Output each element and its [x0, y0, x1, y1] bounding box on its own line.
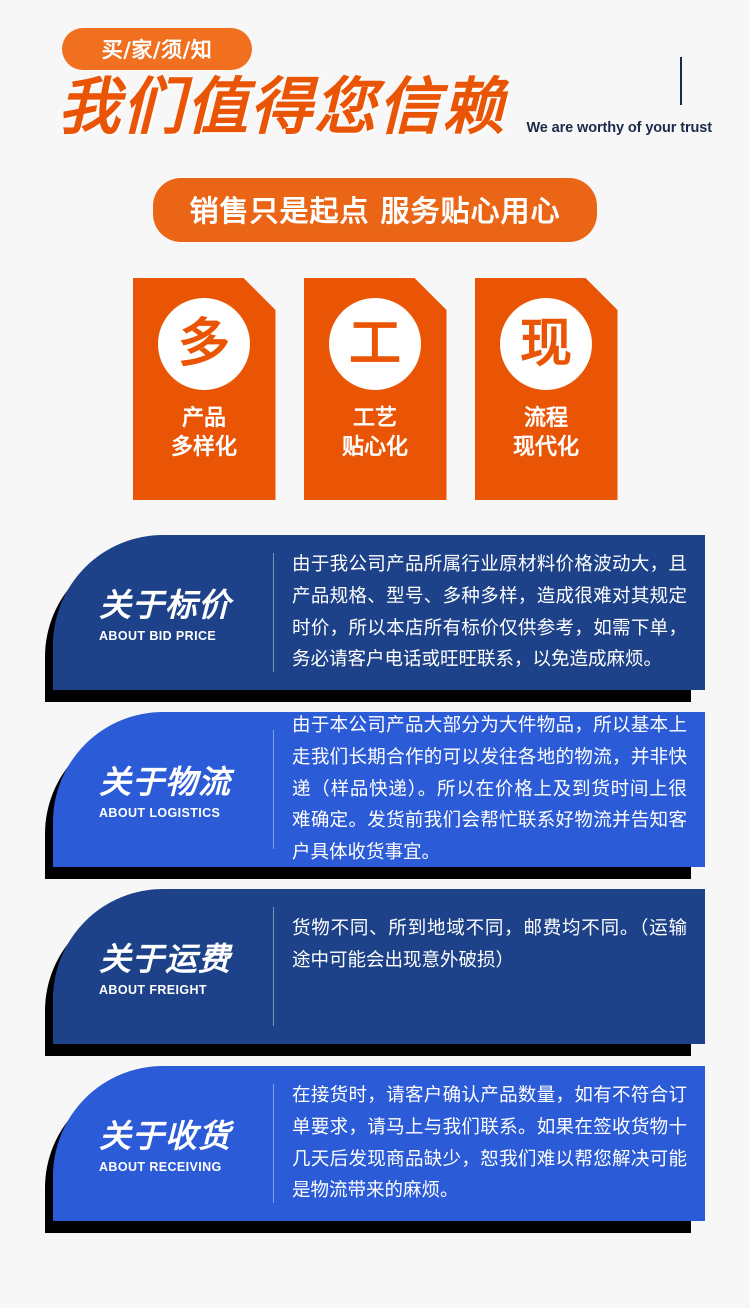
feature-card-line1: 流程	[513, 404, 579, 433]
info-panel-receiving: 关于收货 ABOUT RECEIVING 在接货时，请客户确认产品数量，如有不符…	[45, 1066, 705, 1221]
panel-surface: 关于收货 ABOUT RECEIVING 在接货时，请客户确认产品数量，如有不符…	[53, 1066, 705, 1221]
panel-title-en: ABOUT LOGISTICS	[99, 806, 273, 820]
info-panel-logistics: 关于物流 ABOUT LOGISTICS 由于本公司产品大部分为大件物品，所以基…	[45, 712, 705, 867]
feature-card-product: 多 产品 多样化	[133, 278, 276, 500]
sub-banner: 销售只是起点 服务贴心用心	[153, 178, 596, 242]
info-panel-bid-price: 关于标价 ABOUT BID PRICE 由于我公司产品所属行业原材料价格波动大…	[45, 535, 705, 690]
info-panel-freight: 关于运费 ABOUT FREIGHT 货物不同、所到地域不同，邮费均不同。（运输…	[45, 889, 705, 1044]
panel-title-cn: 关于标价	[99, 588, 273, 623]
panel-body: 在接货时，请客户确认产品数量，如有不符合订单要求，请马上与我们联系。如果在签收货…	[273, 1084, 705, 1203]
feature-card-process: 现 流程 现代化	[475, 278, 618, 500]
feature-card-icon-circle: 现	[500, 298, 592, 390]
panel-title-cn: 关于运费	[99, 942, 273, 977]
feature-cards-row: 多 产品 多样化 工 工艺 贴心化 现 流程 现代化	[0, 278, 750, 500]
page-title: 我们值得您信赖	[58, 76, 506, 138]
feature-card-icon-circle: 多	[158, 298, 250, 390]
header-divider-rule	[680, 57, 682, 105]
feature-card-text: 流程 现代化	[513, 404, 579, 462]
panel-heading-block: 关于标价 ABOUT BID PRICE	[53, 582, 273, 643]
panel-title-en: ABOUT RECEIVING	[99, 1160, 273, 1174]
header-section: 买/家/须/知 我们值得您信赖 We are worthy of your tr…	[0, 0, 750, 170]
feature-card-craft: 工 工艺 贴心化	[304, 278, 447, 500]
panel-title-cn: 关于物流	[99, 765, 273, 800]
panel-heading-block: 关于收货 ABOUT RECEIVING	[53, 1113, 273, 1174]
feature-card-line2: 多样化	[171, 433, 237, 462]
gong-character-icon: 工	[349, 318, 401, 370]
panel-heading-block: 关于运费 ABOUT FREIGHT	[53, 936, 273, 997]
panel-body-text: 货物不同、所到地域不同，邮费均不同。（运输途中可能会出现意外破损）	[292, 907, 687, 977]
panel-body: 货物不同、所到地域不同，邮费均不同。（运输途中可能会出现意外破损）	[273, 907, 705, 1026]
panel-title-en: ABOUT BID PRICE	[99, 629, 273, 643]
feature-card-icon-circle: 工	[329, 298, 421, 390]
xian-character-icon: 现	[520, 318, 572, 370]
feature-card-line2: 贴心化	[342, 433, 408, 462]
feature-card-text: 产品 多样化	[171, 404, 237, 462]
panel-title-cn: 关于收货	[99, 1119, 273, 1154]
panel-heading-block: 关于物流 ABOUT LOGISTICS	[53, 759, 273, 820]
duo-character-icon: 多	[178, 318, 230, 370]
panel-surface: 关于物流 ABOUT LOGISTICS 由于本公司产品大部分为大件物品，所以基…	[53, 712, 705, 867]
feature-card-text: 工艺 贴心化	[342, 404, 408, 462]
english-tagline: We are worthy of your trust	[526, 120, 712, 136]
feature-card-line1: 工艺	[342, 404, 408, 433]
info-panels-section: 关于标价 ABOUT BID PRICE 由于我公司产品所属行业原材料价格波动大…	[0, 535, 750, 1243]
panel-title-en: ABOUT FREIGHT	[99, 983, 273, 997]
panel-surface: 关于运费 ABOUT FREIGHT 货物不同、所到地域不同，邮费均不同。（运输…	[53, 889, 705, 1044]
panel-body: 由于我公司产品所属行业原材料价格波动大，且产品规格、型号、多种多样，造成很难对其…	[273, 553, 705, 672]
buyer-notice-badge: 买/家/须/知	[62, 28, 252, 70]
panel-surface: 关于标价 ABOUT BID PRICE 由于我公司产品所属行业原材料价格波动大…	[53, 535, 705, 690]
sub-banner-container: 销售只是起点 服务贴心用心	[0, 178, 750, 242]
buyer-notice-badge-label: 买/家/须/知	[102, 34, 213, 64]
panel-body-text: 由于我公司产品所属行业原材料价格波动大，且产品规格、型号、多种多样，造成很难对其…	[292, 549, 687, 676]
panel-body-text: 在接货时，请客户确认产品数量，如有不符合订单要求，请马上与我们联系。如果在签收货…	[292, 1080, 687, 1207]
feature-card-line1: 产品	[171, 404, 237, 433]
feature-card-line2: 现代化	[513, 433, 579, 462]
panel-body-text: 由于本公司产品大部分为大件物品，所以基本上走我们长期合作的可以发往各地的物流，并…	[292, 712, 687, 867]
panel-body: 由于本公司产品大部分为大件物品，所以基本上走我们长期合作的可以发往各地的物流，并…	[273, 730, 705, 849]
